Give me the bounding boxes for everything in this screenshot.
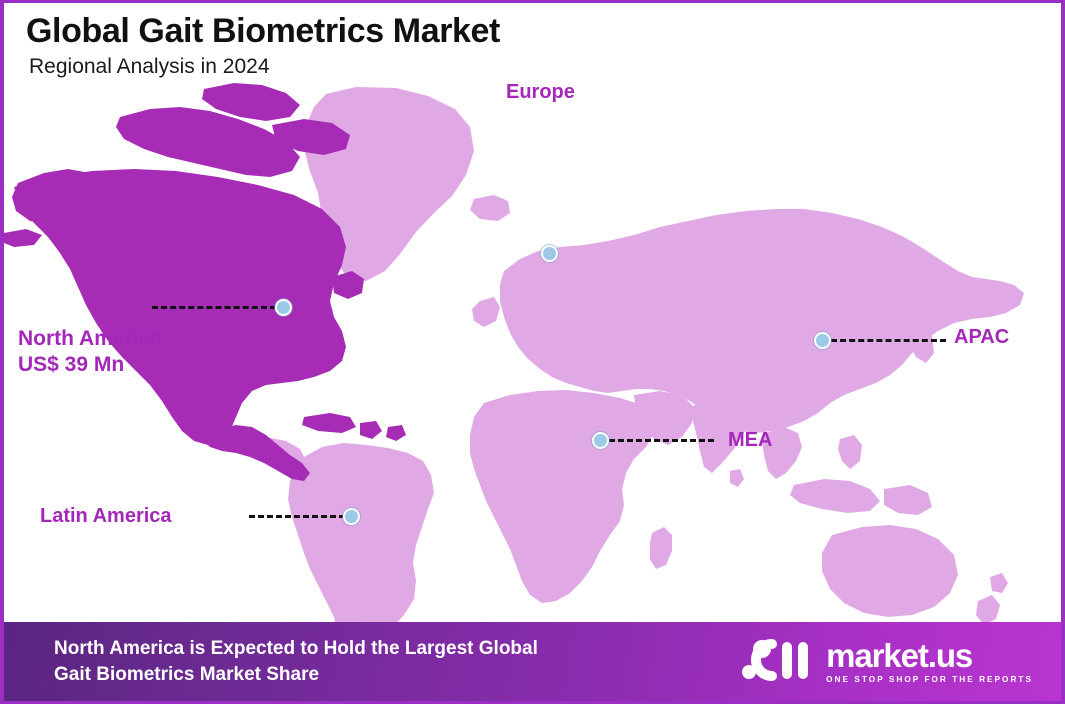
page-title: Global Gait Biometrics Market (26, 11, 500, 51)
leader-line-north-america (152, 306, 276, 309)
leader-line-apac (831, 339, 946, 342)
map-marker-north-america[interactable] (275, 299, 292, 316)
footer-banner: North America is Expected to Hold the La… (4, 622, 1061, 701)
callout-north-america-value: US$ 39 Mn (18, 352, 162, 378)
callout-apac-label: APAC (954, 325, 1009, 349)
logo-text-group: market.us ONE STOP SHOP FOR THE REPORTS (826, 639, 1033, 684)
callout-europe: Europe (506, 80, 575, 104)
page-subtitle: Regional Analysis in 2024 (29, 55, 500, 79)
leader-line-mea (609, 439, 714, 442)
callout-europe-label: Europe (506, 80, 575, 104)
header: Global Gait Biometrics Market Regional A… (26, 11, 500, 79)
world-map (4, 65, 1061, 625)
callout-mea: MEA (728, 428, 772, 452)
map-marker-apac[interactable] (814, 332, 831, 349)
map-marker-latin-america[interactable] (343, 508, 360, 525)
leader-line-latin-america (249, 515, 345, 518)
map-other-regions (266, 87, 1024, 625)
logo-tagline: ONE STOP SHOP FOR THE REPORTS (826, 675, 1033, 684)
callout-north-america: North America US$ 39 Mn (18, 326, 162, 377)
callout-latin-america-label: Latin America (40, 504, 172, 528)
callout-mea-label: MEA (728, 428, 772, 452)
map-highlight-north-america (4, 83, 406, 481)
callout-apac: APAC (954, 325, 1009, 349)
world-map-svg (4, 65, 1061, 625)
brand-logo[interactable]: market.us ONE STOP SHOP FOR THE REPORTS (741, 636, 1033, 687)
infographic-canvas: Global Gait Biometrics Market Regional A… (0, 0, 1065, 704)
map-marker-europe[interactable] (541, 245, 558, 262)
map-marker-mea[interactable] (592, 432, 609, 449)
callout-north-america-label: North America (18, 326, 162, 352)
logo-name: market.us (826, 639, 1033, 672)
callout-latin-america: Latin America (40, 504, 172, 528)
market-us-logo-icon (741, 636, 815, 687)
footer-statement: North America is Expected to Hold the La… (54, 636, 538, 688)
